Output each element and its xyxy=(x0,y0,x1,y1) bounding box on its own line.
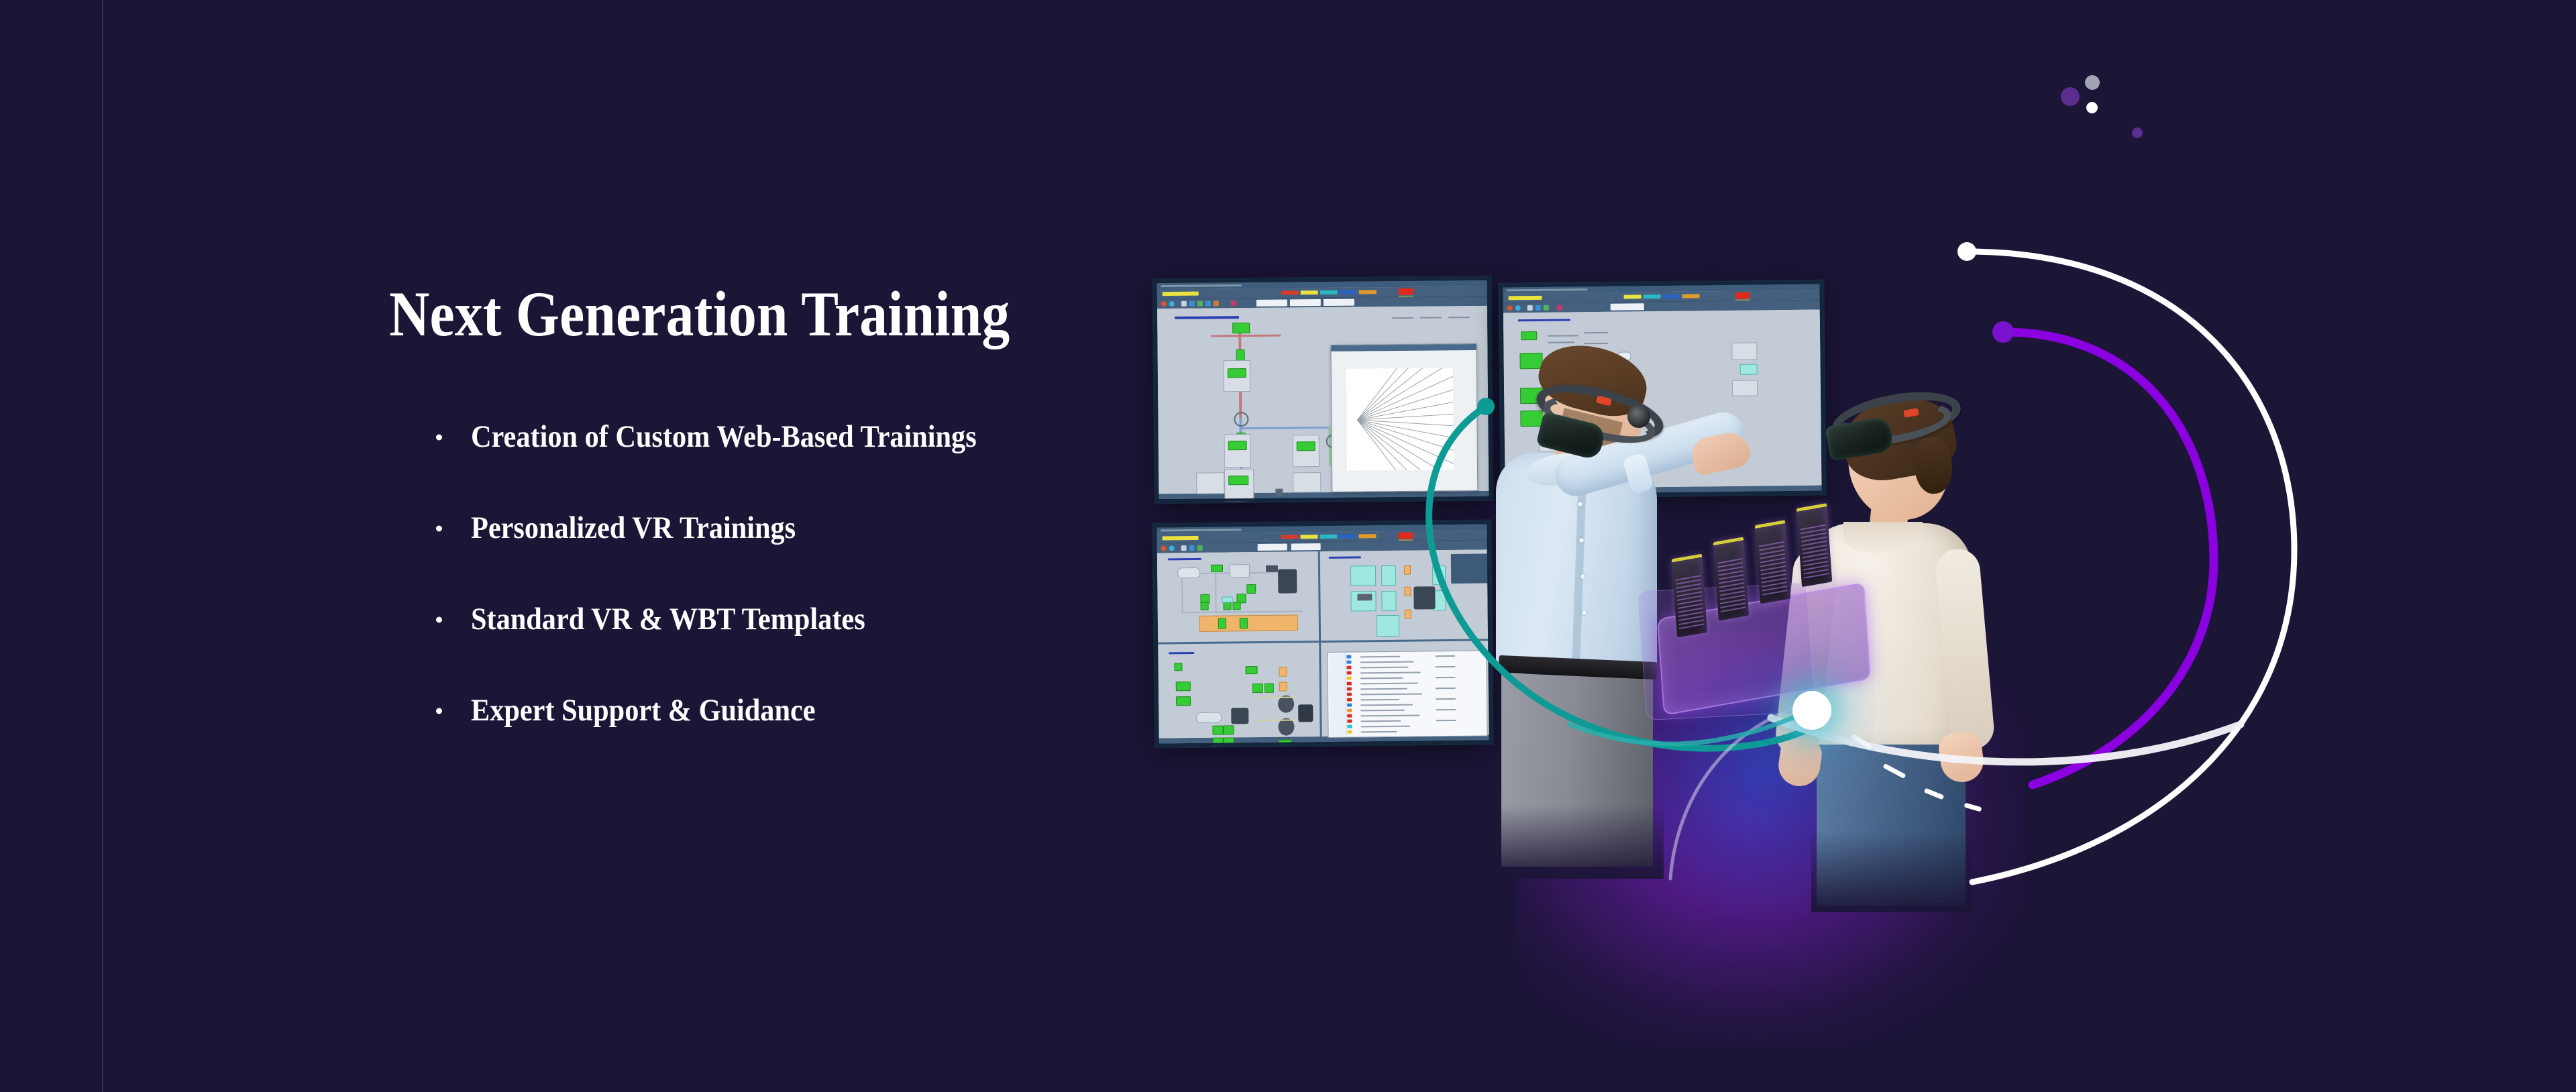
purple-arc-endpoint-dot xyxy=(1992,321,2014,343)
teal-arc-endpoint-dot xyxy=(1477,398,1495,415)
content-column: Next Generation Training Creation of Cus… xyxy=(389,282,1261,347)
bullet-dot-icon xyxy=(436,708,442,714)
white-dot-small xyxy=(2086,102,2098,113)
page-title: Next Generation Training xyxy=(389,282,1157,347)
feature-label: Expert Support & Guidance xyxy=(471,695,816,726)
feature-label: Standard VR & WBT Templates xyxy=(471,604,865,635)
purple-arc xyxy=(2003,332,2214,785)
feature-label: Personalized VR Trainings xyxy=(471,512,796,544)
white-arc-lower xyxy=(1771,718,2241,762)
purple-dot-large xyxy=(2061,87,2080,106)
hero-visual xyxy=(1140,255,2536,926)
feature-label: Creation of Custom Web-Based Trainings xyxy=(471,421,977,453)
left-divider-line xyxy=(102,0,103,1092)
bullet-dot-icon xyxy=(436,616,442,622)
decorative-arcs xyxy=(1140,255,2536,926)
bullet-dot-icon xyxy=(436,434,442,440)
purple-dot-small xyxy=(2132,127,2143,138)
slide-canvas: Next Generation Training Creation of Cus… xyxy=(0,0,2576,1092)
energy-node xyxy=(1792,691,1831,730)
grey-dot xyxy=(2085,75,2100,90)
white-arc-endpoint-dot xyxy=(1957,242,1976,261)
faint-white-arc xyxy=(1670,703,1811,879)
teal-arc xyxy=(1429,406,1818,749)
white-arc xyxy=(1967,252,2294,882)
bullet-dot-icon xyxy=(436,525,442,531)
